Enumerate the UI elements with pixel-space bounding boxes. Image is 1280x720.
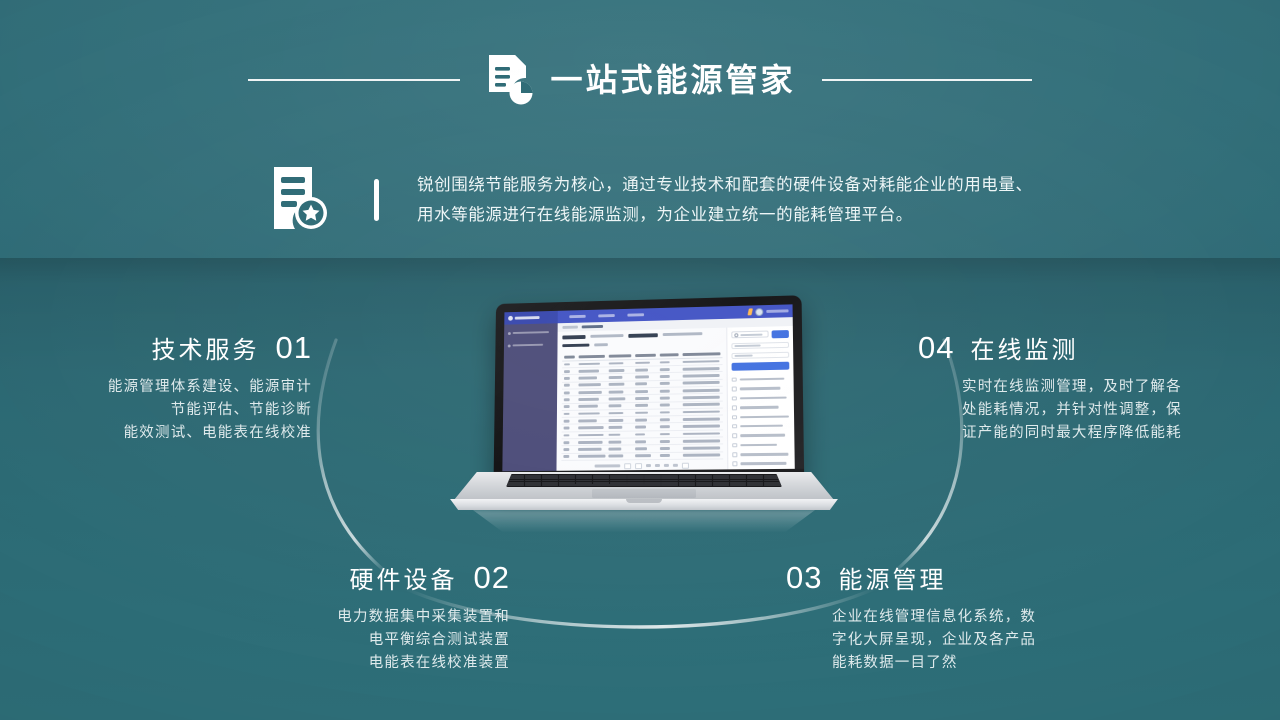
feature-lines: 实时在线监测管理，及时了解各 处能耗情况，并针对性调整，保 证产能的同时最大程序… [962,376,1258,445]
panel-select-row[interactable] [731,351,789,359]
feature-title: 技术服务 [152,330,260,365]
column-header[interactable] [608,354,631,357]
feature-title: 在线监测 [970,330,1078,365]
dashboard-sidebar [502,323,557,471]
panel-select-row[interactable] [731,341,789,349]
pagination-page[interactable] [646,465,651,468]
search-button[interactable] [772,330,789,338]
title-row: 一站式能源管家 [0,52,1280,108]
checkbox-icon[interactable] [732,462,737,467]
feature-line: 能效测试、电能表在线校准 [12,422,312,445]
nav-item[interactable] [627,314,644,317]
panel-search-row [731,330,789,339]
pagination-page[interactable] [664,464,669,467]
search-placeholder [740,333,762,336]
description-text: 锐创围绕节能服务为核心，通过专业技术和配套的硬件设备对耗能企业的用电量、 用水等… [417,170,1033,230]
sidebar-item-label [513,331,549,334]
checkbox-icon[interactable] [732,434,737,439]
nav-item[interactable] [598,314,615,317]
feature-heading: 技术服务 01 [12,330,312,366]
document-pie-chart-icon [486,53,534,107]
primary-action-button[interactable] [732,361,790,370]
feature-number: 01 [276,330,312,366]
search-input[interactable] [731,331,768,339]
feature-block-03: 03 能源管理 企业在线管理信息化系统，数 字化大屏呈现，企业及各产品 能耗数据… [786,560,1116,675]
pagination-page[interactable] [655,464,660,467]
feature-line: 节能评估、节能诊断 [12,399,312,422]
vertical-divider [374,179,379,221]
column-header[interactable] [564,355,574,358]
laptop-notch [626,499,662,503]
feature-block-04: 04 在线监测 实时在线监测管理，及时了解各 处能耗情况，并针对性调整，保 证产… [918,330,1258,445]
feature-heading: 04 在线监测 [918,330,1258,366]
feature-title: 能源管理 [838,560,946,595]
feature-line: 企业在线管理信息化系统，数 [832,606,1116,629]
laptop-reflection [458,510,830,532]
checkbox-icon[interactable] [732,387,737,392]
user-name [766,310,788,313]
description-row: 锐创围绕节能服务为核心，通过专业技术和配套的硬件设备对耗能企业的用电量、 用水等… [268,158,1228,242]
column-header[interactable] [636,354,656,357]
divider-line-right-icon [822,79,1032,81]
feature-lines: 电力数据集中采集装置和 电平衡综合测试装置 电能表在线校准装置 [200,606,510,675]
filter-bar [562,332,722,347]
checkbox-icon[interactable] [732,415,737,420]
feature-line: 实时在线监测管理，及时了解各 [962,376,1258,399]
feature-lines: 能源管理体系建设、能源审计 节能评估、节能诊断 能效测试、电能表在线校准 [12,376,312,445]
feature-line: 电能表在线校准装置 [200,652,510,675]
sidebar-item-label [513,344,544,347]
filter-field[interactable] [590,334,623,338]
pagination-page[interactable] [635,463,642,469]
dashboard-mockup [502,304,794,471]
divider-line-left-icon [248,79,460,81]
checkbox-icon[interactable] [732,378,737,383]
checkbox-icon[interactable] [732,424,737,429]
dashboard-nav [569,314,644,318]
header-band: 一站式能源管家 锐创围绕节能服务为核心，通过专业技术和配套的硬件设备对耗能企业的… [0,0,1280,258]
checkbox-icon[interactable] [732,396,737,401]
feature-line: 电平衡综合测试装置 [200,629,510,652]
filter-select[interactable] [731,342,789,350]
laptop-base [424,472,864,516]
pencil-icon[interactable] [747,308,752,315]
search-icon [734,333,738,337]
sidebar-item[interactable] [508,328,554,337]
feature-line: 处能耗情况，并针对性调整，保 [962,399,1258,422]
feature-number: 03 [786,560,822,596]
filter-field[interactable] [594,343,608,346]
pagination-page[interactable] [673,464,678,467]
logo-text [515,316,540,320]
page-title: 一站式能源管家 [550,64,795,96]
row-count-text [692,347,722,348]
user-avatar-icon[interactable] [755,308,763,316]
checkbox-icon[interactable] [732,405,737,410]
feature-block-01: 技术服务 01 能源管理体系建设、能源审计 节能评估、节能诊断 能效测试、电能表… [12,330,312,445]
breadcrumb-item-current [582,325,603,328]
laptop-screen [502,304,794,471]
feature-line: 能源管理体系建设、能源审计 [12,376,312,399]
filter-select-value [734,344,760,347]
side-panel [726,326,795,469]
filter-select[interactable] [731,352,789,360]
laptop-lid [493,295,804,487]
column-header[interactable] [660,353,679,356]
checkbox-list-item[interactable] [732,449,790,459]
feature-lines: 企业在线管理信息化系统，数 字化大屏呈现，企业及各产品 能耗数据一目了然 [832,606,1116,675]
pagination-next[interactable] [682,463,689,469]
feature-line: 电力数据集中采集装置和 [200,606,510,629]
dashboard-main [556,317,794,471]
breadcrumb-item[interactable] [562,326,577,329]
feature-title: 硬件设备 [350,560,458,595]
feature-line: 字化大屏呈现，企业及各产品 [832,629,1116,652]
feature-number: 04 [918,330,954,366]
feature-number: 02 [474,560,510,596]
feature-line: 证产能的同时最大程序降低能耗 [962,422,1258,445]
filter-field[interactable] [663,332,703,336]
feature-block-02: 硬件设备 02 电力数据集中采集装置和 电平衡综合测试装置 电能表在线校准装置 [200,560,510,675]
logo-mark-icon [508,316,513,321]
nav-item[interactable] [569,315,585,318]
pagination-prev[interactable] [624,463,631,469]
pagination-info [595,465,621,468]
document-star-icon [268,164,332,236]
column-header[interactable] [578,355,604,358]
checkbox-list-item[interactable] [732,459,790,469]
checkbox-icon[interactable] [732,452,737,457]
dashboard-content [556,326,794,471]
column-header[interactable] [682,352,720,356]
laptop-trackpad [592,489,696,498]
laptop-mockup [424,296,864,528]
checkbox-icon[interactable] [732,443,737,448]
table-panel [556,328,727,471]
dashboard-user-area[interactable] [748,307,793,316]
filter-label [562,335,585,339]
feature-heading: 硬件设备 02 [200,560,510,596]
laptop-keyboard [506,474,782,487]
feature-heading: 03 能源管理 [786,560,1116,596]
feature-line: 能耗数据一目了然 [832,652,1116,675]
sidebar-item[interactable] [508,341,554,350]
filter-select-value [735,354,753,357]
sidebar-item-icon [508,332,511,335]
description-line-1: 锐创围绕节能服务为核心，通过专业技术和配套的硬件设备对耗能企业的用电量、 [417,170,1033,200]
filter-label [628,333,657,337]
description-line-2: 用水等能源进行在线能源监测，为企业建立统一的能耗管理平台。 [417,200,1033,230]
filter-label [562,343,589,347]
data-table [561,350,723,461]
dashboard-body [502,317,794,471]
title-group: 一站式能源管家 [486,53,795,107]
sidebar-item-icon [508,344,511,347]
